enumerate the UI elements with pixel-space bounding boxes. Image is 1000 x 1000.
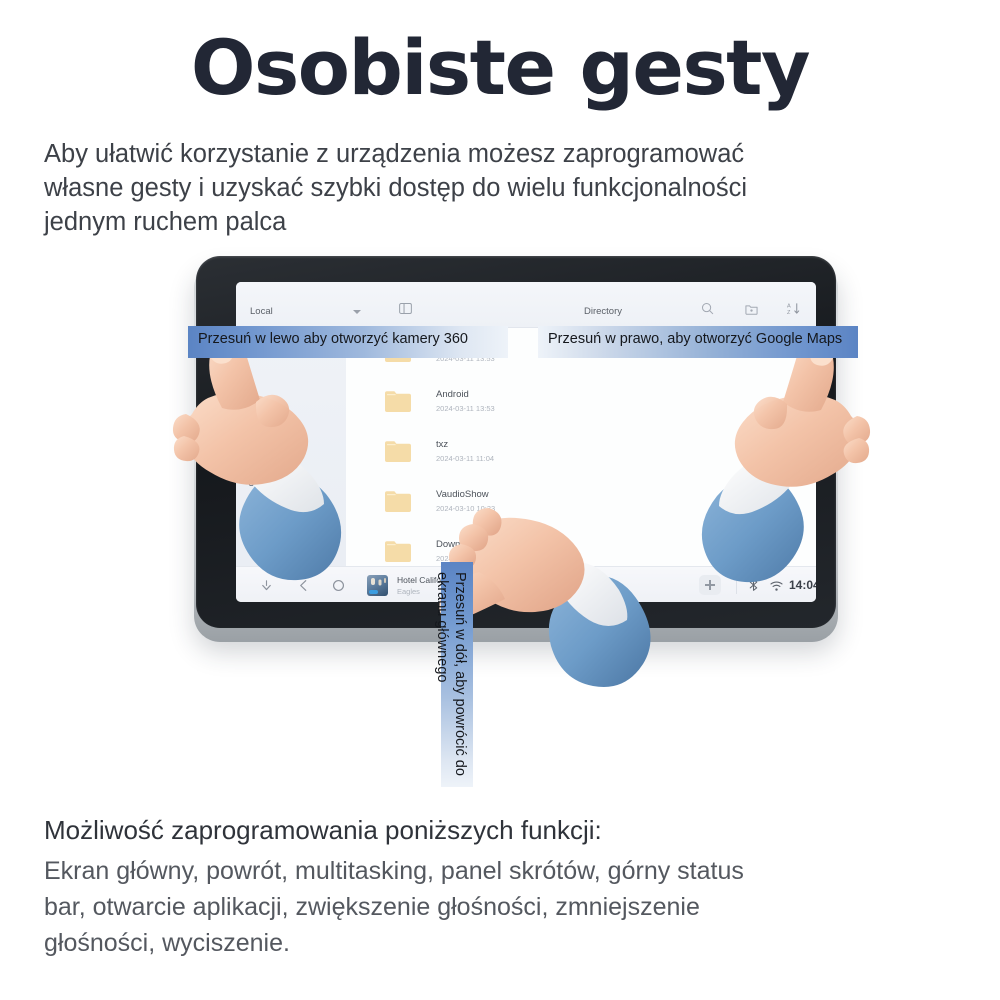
footer-line-1: Ekran główny, powrót, multitasking, pane… [44, 853, 994, 889]
gesture-banner-swipe-right: Przesuń w prawo, aby otworzyć Google Map… [538, 326, 858, 358]
file-date: 2024-03-11 11:04 [436, 454, 494, 463]
gesture-banner-swipe-left: Przesuń w lewo aby otworzyć kamery 360 [188, 326, 508, 358]
file-name: txz [436, 439, 448, 450]
folder-icon [384, 540, 412, 563]
file-name: Android [436, 389, 469, 400]
folder-icon [384, 490, 412, 513]
page-root: Osobiste gesty Aby ułatwić korzystanie z… [0, 0, 1000, 1000]
intro-line-2: własne gesty i uzyskać szybki dostęp do … [44, 172, 974, 206]
intro-line-3: jednym ruchem palca [44, 206, 974, 240]
footer-title: Możliwość zaprogramowania poniższych fun… [44, 812, 994, 849]
intro-paragraph: Aby ułatwić korzystanie z urządzenia moż… [44, 138, 974, 240]
directory-label: Directory [584, 306, 622, 317]
footer-line-3: głośności, wyciszenie. [44, 925, 994, 961]
page-title: Osobiste gesty [0, 28, 1000, 108]
footer-line-2: bar, otwarcie aplikacji, zwiększenie gło… [44, 889, 994, 925]
hand-illustration [435, 480, 710, 730]
folder-icon [384, 440, 412, 463]
split-pane-icon[interactable] [399, 303, 412, 314]
file-date: 2024-03-11 13:53 [436, 404, 495, 413]
tablet-illustration: Local Directory [186, 252, 846, 652]
gesture-banner-swipe-down: Przesuń w dół, aby powrócić do ekranu gł… [441, 562, 473, 787]
intro-line-1: Aby ułatwić korzystanie z urządzenia moż… [44, 138, 974, 172]
hand-swipe-down [435, 480, 710, 730]
footer-body: Ekran główny, powrót, multitasking, pane… [44, 853, 994, 962]
folder-icon [384, 390, 412, 413]
footer-copy: Możliwość zaprogramowania poniższych fun… [44, 812, 994, 962]
track-artist: Eagles [397, 587, 420, 596]
